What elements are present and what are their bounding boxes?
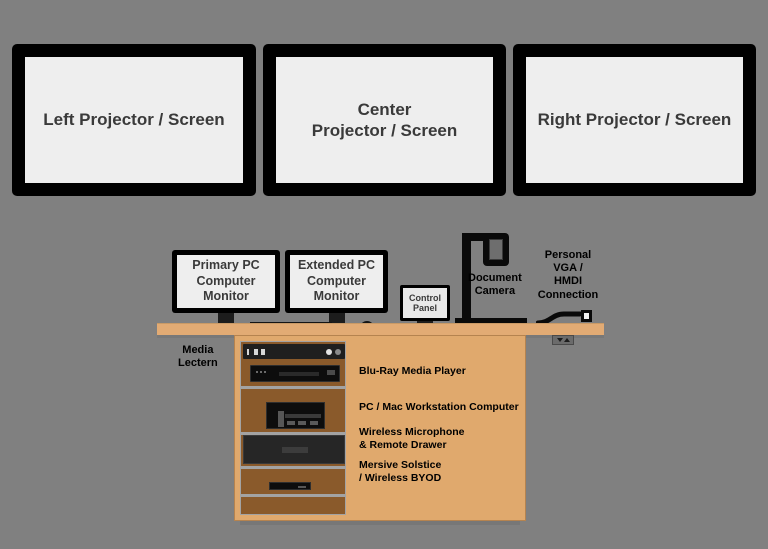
panel-switch-icon [254, 349, 258, 355]
projector-screen-center[interactable]: Center Projector / Screen [263, 44, 506, 196]
bluray-eject-button-icon[interactable] [327, 370, 335, 375]
control-panel-label: Control Panel [403, 288, 447, 318]
drawer-handle-icon[interactable] [282, 447, 308, 453]
plate-triangle-down-icon [557, 338, 563, 342]
lectern-base-shadow [240, 521, 520, 525]
document-camera-label: Document Camera [468, 272, 522, 298]
workstation-computer-device[interactable] [266, 402, 325, 429]
doc-cam-head [483, 233, 509, 266]
projector-screen-left[interactable]: Left Projector / Screen [12, 44, 256, 196]
monitor-primary-pc[interactable]: Primary PC Computer Monitor [172, 250, 280, 313]
media-lectern[interactable]: Blu-Ray Media Player PC / Mac Workstatio… [234, 335, 526, 521]
screen-left-label: Left Projector / Screen [25, 57, 243, 183]
rack-label-solstice: Mersive Solstice / Wireless BYOD [359, 459, 441, 485]
monitor-primary-label: Primary PC Computer Monitor [177, 255, 275, 308]
rack-shelf-divider [241, 494, 345, 497]
workstation-port-icon [287, 421, 295, 425]
bluray-indicator-dots-icon [256, 371, 266, 373]
bluray-player-device[interactable] [250, 365, 340, 382]
monitor-stand [218, 313, 234, 323]
media-lectern-label: Media Lectern [178, 344, 218, 370]
wireless-microphone-drawer[interactable] [243, 435, 345, 464]
monitor-extended-label: Extended PC Computer Monitor [290, 255, 383, 308]
control-panel-bezel: Control Panel [400, 285, 450, 321]
rack-label-workstation: PC / Mac Workstation Computer [359, 401, 519, 414]
desk-surface [157, 323, 604, 335]
solstice-led-icon [298, 486, 306, 488]
panel-switch-icon [261, 349, 265, 355]
mersive-solstice-device[interactable] [269, 482, 311, 490]
equipment-rack [240, 341, 346, 515]
monitor-extended-pc[interactable]: Extended PC Computer Monitor [285, 250, 388, 313]
rack-label-bluray: Blu-Ray Media Player [359, 365, 466, 378]
floor-box-plate-icon[interactable] [552, 335, 574, 345]
bluray-disc-tray-icon[interactable] [279, 372, 319, 376]
doc-cam-lens [489, 239, 503, 260]
workstation-port-icon [310, 421, 318, 425]
rack-power-panel[interactable] [243, 344, 345, 359]
panel-led-icon [335, 349, 341, 355]
av-system-diagram: Left Projector / Screen Center Projector… [0, 0, 768, 549]
cable-plug-pin [584, 313, 589, 319]
vga-hdmi-label: Personal VGA / HMDI Connection [532, 249, 604, 302]
panel-indicator-icon [247, 349, 249, 355]
control-panel[interactable]: Control Panel [400, 285, 450, 321]
rack-label-microphone: Wireless Microphone & Remote Drawer [359, 426, 465, 452]
monitor-bezel: Primary PC Computer Monitor [172, 250, 280, 313]
workstation-front-panel-icon [278, 411, 284, 427]
rack-shelf-divider [241, 466, 345, 469]
plate-triangle-up-icon [564, 338, 570, 342]
screen-center-label: Center Projector / Screen [276, 57, 493, 183]
screen-right-label: Right Projector / Screen [526, 57, 743, 183]
monitor-bezel: Extended PC Computer Monitor [285, 250, 388, 313]
workstation-optical-drive-icon [285, 414, 321, 418]
panel-power-button-icon[interactable] [326, 349, 332, 355]
workstation-port-icon [298, 421, 306, 425]
projector-screen-right[interactable]: Right Projector / Screen [513, 44, 756, 196]
rack-shelf-divider [241, 386, 345, 389]
